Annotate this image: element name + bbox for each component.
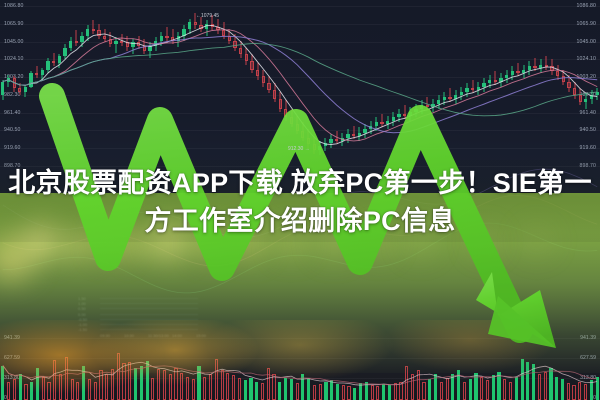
headline-text: 北京股票配资APP下载 放弃PC第一步！SIE第一 方工作室介绍删除PC信息 bbox=[0, 164, 600, 240]
headline-line-1: 北京股票配资APP下载 放弃PC第一步！SIE第一 bbox=[0, 164, 600, 202]
banner-image: 1086.801086.801065.901065.901045.001045.… bbox=[0, 0, 600, 400]
chart-annotation: 912.30 → bbox=[288, 146, 310, 152]
chart-annotation: ←1079.45 bbox=[196, 13, 219, 19]
headline-line-2: 方工作室介绍删除PC信息 bbox=[0, 202, 600, 240]
